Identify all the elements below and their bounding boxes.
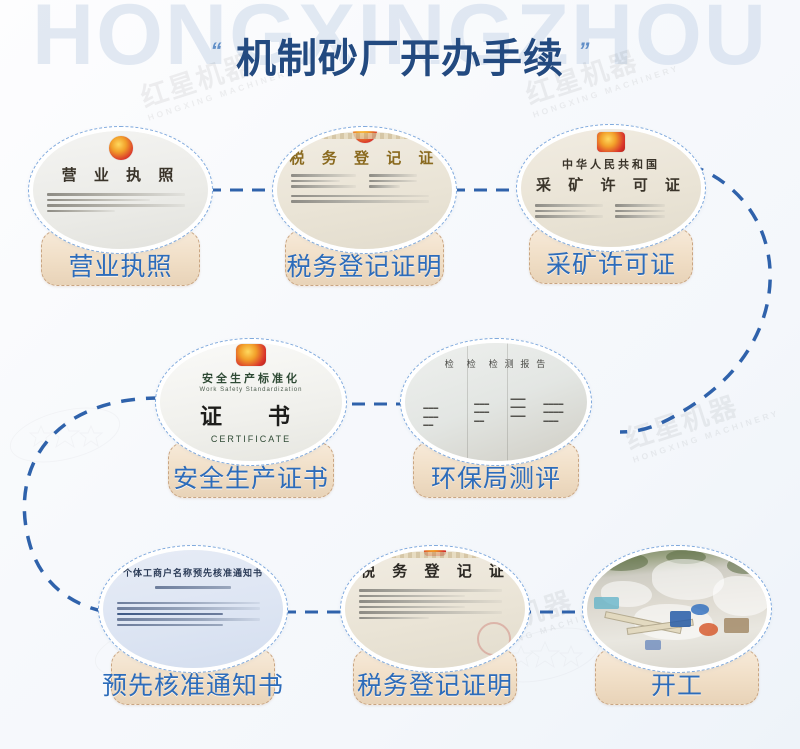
document-subtitle-top: Work Safety Standardization: [200, 387, 303, 393]
document-line: [535, 210, 585, 213]
step-image-frame: 税 务 登 记 证: [340, 545, 530, 673]
document-line: [359, 606, 465, 609]
document-title: 采 矿 许 可 证: [536, 174, 686, 195]
document-line: [535, 204, 602, 207]
step-image: 税 务 登 记 证: [277, 131, 452, 249]
step-image: 税 务 登 记 证: [345, 550, 525, 668]
document-title: 税 务 登 记 证: [360, 560, 510, 581]
national-emblem-icon: [109, 136, 133, 160]
step-card-3[interactable]: 中华人民共和国 采 矿 许 可 证: [516, 124, 706, 284]
national-emblem-icon: [597, 132, 625, 152]
quote-open-icon: “: [211, 38, 222, 64]
document-line: [369, 185, 401, 188]
document-title-top: 安全生产标准化: [202, 370, 300, 386]
step-image: 个体工商户名称预先核准通知书: [103, 550, 283, 668]
quote-close-icon: ”: [578, 38, 589, 64]
document-title: 营 业 执 照: [62, 164, 180, 185]
document-line: [359, 617, 429, 620]
document-body: [47, 190, 194, 215]
document-title-top: 中华人民共和国: [562, 156, 660, 172]
step-card-1[interactable]: 营 业 执 照 营业执照: [28, 126, 213, 286]
document-border-band: [352, 552, 518, 558]
step-image: 安全生产标准化 Work Safety Standardization 证 书 …: [160, 343, 342, 461]
page-title: 机制砂厂开办手续: [236, 26, 564, 84]
document-title: 检 检 检 测 报 告: [405, 357, 587, 370]
step-card-5[interactable]: 检 检 检 测 报 告 ▬▬▬▬▬▬▬▬ ▬▬▬▬▬▬▬▬ ▬▬▬▬▬▬▬▬▬ …: [400, 338, 592, 498]
document-line: [359, 600, 501, 603]
step-card-6[interactable]: 个体工商户名称预先核准通知书 预先核准通知书: [98, 545, 288, 705]
photo-quarry-site: [587, 550, 767, 668]
step-image: 营 业 执 照: [33, 131, 208, 249]
document-line: [47, 193, 185, 196]
document-tax-registration: 税 务 登 记 证: [277, 131, 452, 249]
document-line: [291, 195, 429, 198]
step-card-2[interactable]: 税 务 登 记 证: [272, 126, 457, 286]
document-line: [291, 174, 356, 177]
step-image-frame: 检 检 检 测 报 告 ▬▬▬▬▬▬▬▬ ▬▬▬▬▬▬▬▬ ▬▬▬▬▬▬▬▬▬ …: [400, 338, 592, 466]
step-image-frame: 中华人民共和国 采 矿 许 可 证: [516, 124, 706, 252]
document-line: [47, 199, 150, 202]
document-line: [359, 589, 501, 592]
document-line: [369, 174, 418, 177]
document-line: [47, 210, 115, 213]
document-line: [47, 204, 185, 207]
document-title: 个体工商户名称预先核准通知书: [123, 566, 263, 579]
document-line: [359, 611, 501, 614]
document-line: [535, 215, 602, 218]
step-image: [587, 550, 767, 668]
official-seal-icon: [477, 622, 511, 656]
document-preapproval-notice: 个体工商户名称预先核准通知书: [103, 550, 283, 668]
step-card-8[interactable]: 开工: [582, 545, 772, 705]
step-image-frame: 个体工商户名称预先核准通知书: [98, 545, 288, 673]
document-mining-license: 中华人民共和国 采 矿 许 可 证: [521, 129, 701, 247]
document-line: [615, 204, 665, 207]
document-line: [291, 200, 429, 203]
document-business-license: 营 业 执 照: [33, 131, 208, 249]
document-line: [291, 180, 340, 183]
step-image-frame: [582, 545, 772, 673]
document-line: [291, 185, 356, 188]
step-card-7[interactable]: 税 务 登 记 证 税务登记证明: [340, 545, 530, 705]
step-image: 中华人民共和国 采 矿 许 可 证: [521, 129, 701, 247]
document-body: [291, 171, 438, 191]
step-image-frame: 营 业 执 照: [28, 126, 213, 254]
national-emblem-icon: [236, 344, 266, 366]
document-title: 证 书: [200, 399, 302, 431]
page-header: “ 机制砂厂开办手续 ”: [0, 26, 800, 84]
step-image: 检 检 检 测 报 告 ▬▬▬▬▬▬▬▬ ▬▬▬▬▬▬▬▬ ▬▬▬▬▬▬▬▬▬ …: [405, 343, 587, 461]
document-line: [615, 215, 665, 218]
document-subtitle: CERTIFICATE: [211, 434, 291, 444]
infographic-root: HONGXINGZHOU 红星机器 HONGXING MACHINERY 红星机…: [0, 0, 800, 749]
document-line: [359, 595, 465, 598]
document-tax-registration: 税 务 登 记 证: [345, 550, 525, 668]
step-image-frame: 税 务 登 记 证: [272, 126, 457, 254]
document-line: [369, 180, 418, 183]
step-card-4[interactable]: 安全生产标准化 Work Safety Standardization 证 书 …: [155, 338, 347, 498]
step-image-frame: 安全生产标准化 Work Safety Standardization 证 书 …: [155, 338, 347, 466]
document-border-band: [284, 133, 445, 139]
document-line: [615, 210, 665, 213]
document-title: 税 务 登 记 证: [290, 147, 440, 168]
document-inspection-report: 检 检 检 测 报 告 ▬▬▬▬▬▬▬▬ ▬▬▬▬▬▬▬▬ ▬▬▬▬▬▬▬▬▬ …: [405, 343, 587, 461]
document-safety-certificate: 安全生产标准化 Work Safety Standardization 证 书 …: [160, 343, 342, 461]
